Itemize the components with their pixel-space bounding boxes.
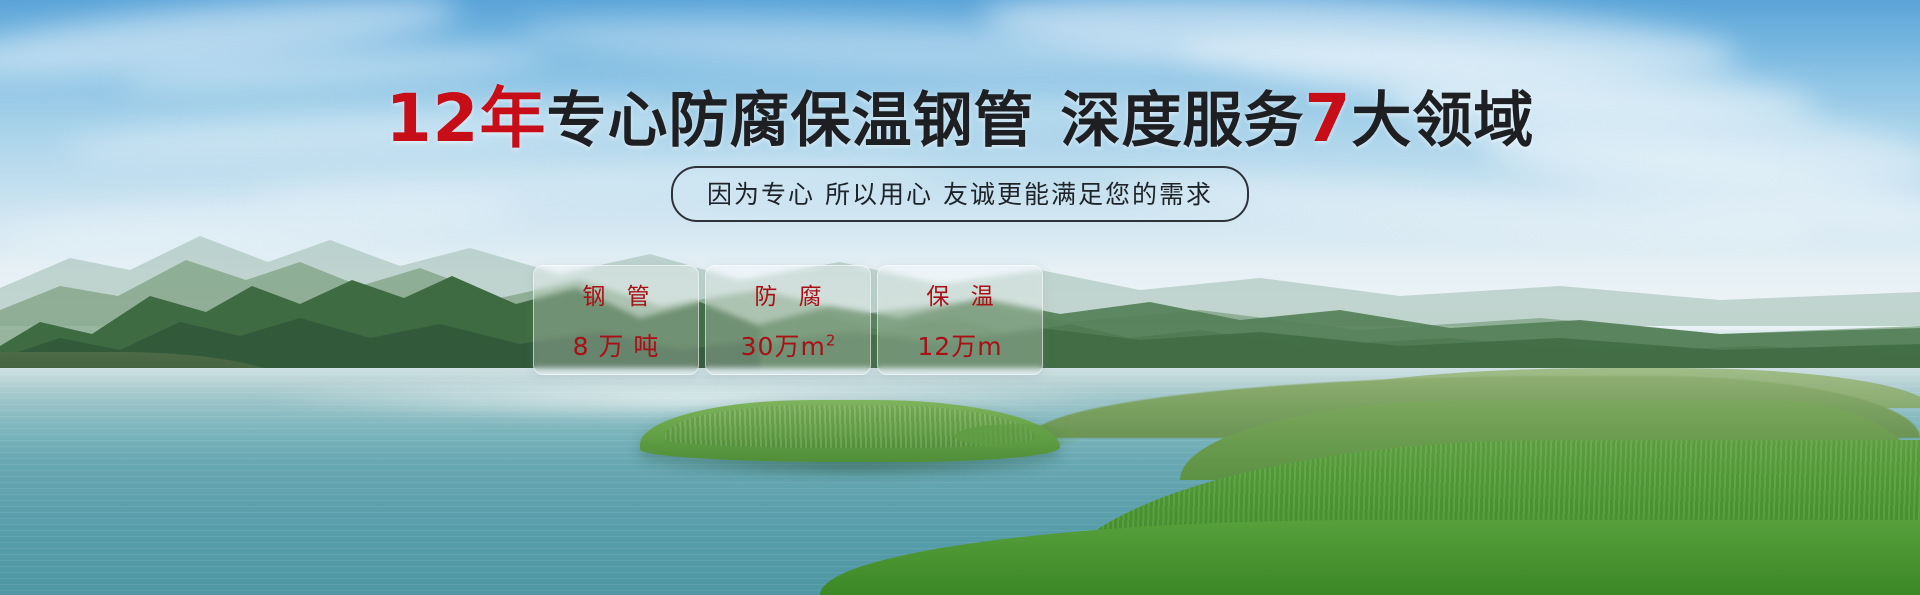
- stat-card-title: 防 腐: [747, 277, 828, 311]
- headline-segment-1: 专心防腐保温钢管: [546, 86, 1034, 156]
- stat-card-value-text: 12万m: [917, 332, 1002, 361]
- banner-copy-layer: 12年专心防腐保温钢管深度服务7大领域 因为专心 所以用心 友诚更能满足您的需求…: [0, 0, 1920, 595]
- subtitle-container: 因为专心 所以用心 友诚更能满足您的需求: [0, 166, 1920, 222]
- stat-card-steel-pipe[interactable]: 钢 管 8 万 吨: [533, 265, 699, 375]
- stat-card-value: 12万m: [917, 327, 1002, 363]
- headline-segment-2: 深度服务: [1060, 86, 1304, 156]
- hero-banner: 12年专心防腐保温钢管深度服务7大领域 因为专心 所以用心 友诚更能满足您的需求…: [0, 0, 1920, 595]
- stat-card-value-text: 8 万 吨: [573, 332, 660, 361]
- stat-cards: 钢 管 8 万 吨 防 腐 30万m2 保 温 12万m: [533, 265, 1043, 375]
- stat-card-insulation[interactable]: 保 温 12万m: [877, 265, 1043, 375]
- headline-segment-3: 大领域: [1351, 86, 1534, 156]
- stat-card-anticorrosion[interactable]: 防 腐 30万m2: [705, 265, 871, 375]
- stat-card-value: 30万m2: [741, 327, 836, 363]
- stat-card-value-text: 30万m: [741, 332, 826, 361]
- stat-card-title: 钢 管: [575, 277, 656, 311]
- headline: 12年专心防腐保温钢管深度服务7大领域: [0, 86, 1920, 152]
- stat-card-title: 保 温: [919, 277, 1000, 311]
- stat-card-value-superscript: 2: [826, 332, 836, 350]
- headline-years-number: 12: [386, 80, 480, 157]
- stat-card-value: 8 万 吨: [573, 327, 660, 363]
- headline-fields-number: 7: [1304, 80, 1351, 157]
- subtitle-pill: 因为专心 所以用心 友诚更能满足您的需求: [671, 166, 1249, 222]
- headline-years-suffix: 年: [479, 80, 546, 157]
